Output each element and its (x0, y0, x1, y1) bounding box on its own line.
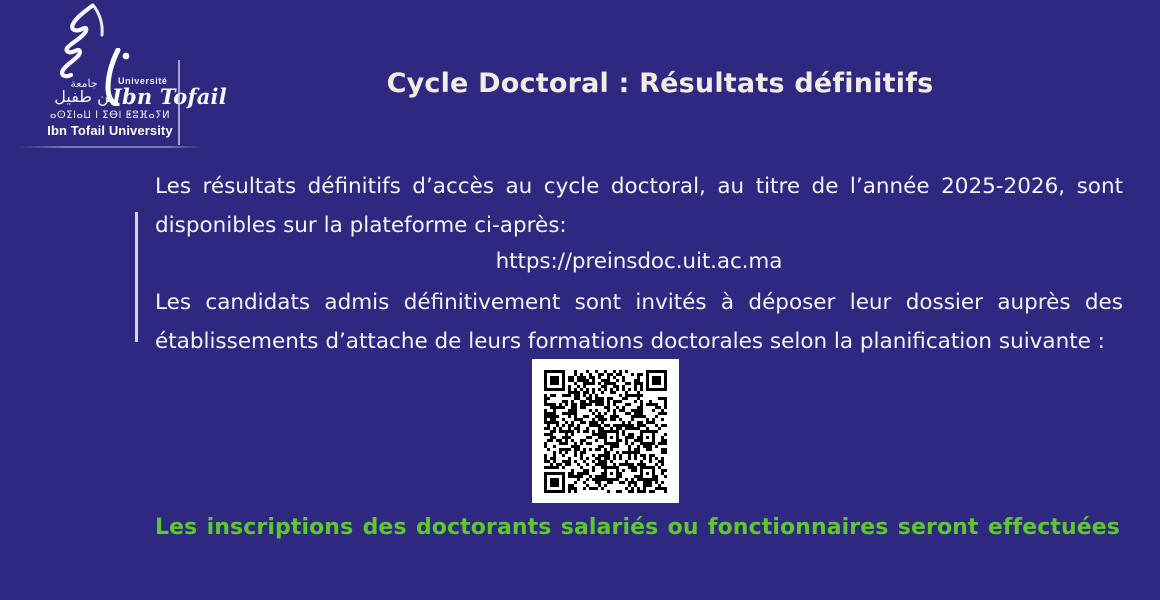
highlight-note-line-1: Les inscriptions des doctorants salariés… (155, 505, 1120, 597)
logo-ibn-tofail-script: Ibn Tofail (112, 84, 227, 109)
slide-canvas: جامعة بن طفيل Université Ibn Tofail ⴰⵙⵉⵏ… (0, 0, 1160, 600)
left-accent-bar (135, 212, 138, 342)
logo-english-name: Ibn Tofail University (34, 123, 186, 138)
platform-url[interactable]: https://preinsdoc.uit.ac.ma (155, 245, 1123, 278)
logo-vertical-divider (178, 60, 180, 145)
page-title: Cycle Doctoral : Résultats définitifs (230, 68, 1090, 99)
qr-code-icon[interactable] (544, 370, 667, 493)
logo-underline-rule (18, 146, 203, 148)
qr-code-panel[interactable] (532, 359, 679, 503)
intro-paragraph: Les résultats définitifs d’accès au cycl… (155, 167, 1123, 245)
instructions-paragraph: Les candidats admis définitivement sont … (155, 283, 1123, 361)
university-logo: جامعة بن طفيل Université Ibn Tofail ⴰⵙⵉⵏ… (0, 0, 205, 148)
highlight-note: Les inscriptions des doctorants salariés… (155, 505, 1120, 600)
logo-tifinagh-line: ⴰⵙⵉⵏⴰⵡ ⵏ ⵉⴱⵏ ⵟⵓⴼⴰⵢⵍ (40, 110, 180, 121)
